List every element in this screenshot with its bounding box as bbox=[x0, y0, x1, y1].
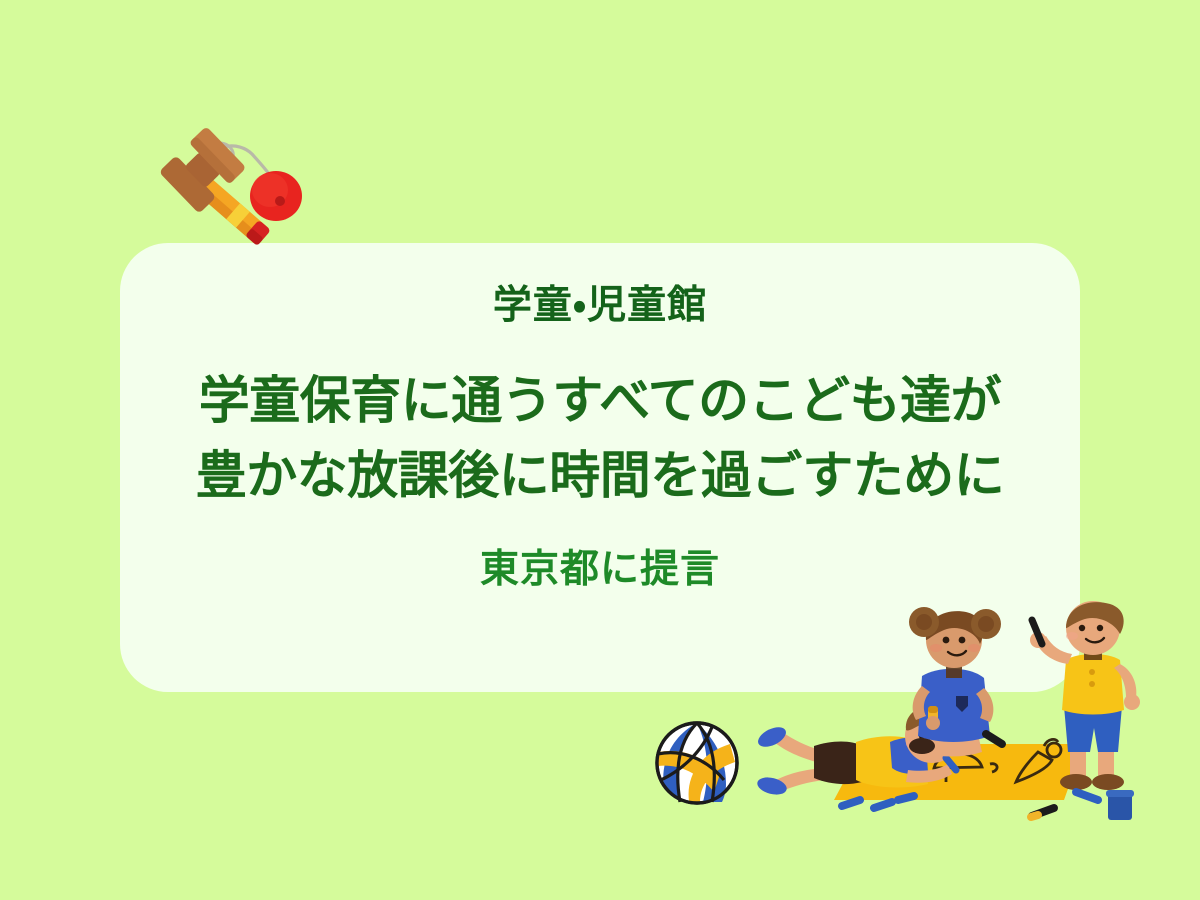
card-subline: 東京都に提言 bbox=[480, 549, 720, 592]
card-headline: 学童保育に通うすべてのこども達が 豊かな放課後に時間を過ごすために bbox=[196, 364, 1005, 515]
card-text-block: 学童・児童館 学童保育に通うすべてのこども達が 豊かな放課後に時間を過ごすために… bbox=[120, 243, 1080, 692]
card-eyebrow: 学童・児童館 bbox=[493, 285, 707, 328]
headline-line-1: 学童保育に通うすべてのこども達が bbox=[196, 364, 1005, 439]
volleyball-icon bbox=[657, 723, 737, 803]
poster-canvas: 学童・児童館 学童保育に通うすべてのこども達が 豊かな放課後に時間を過ごすために… bbox=[0, 0, 1200, 900]
kendama-ball bbox=[250, 171, 302, 221]
headline-line-2: 豊かな放課後に時間を過ごすために bbox=[196, 439, 1005, 514]
